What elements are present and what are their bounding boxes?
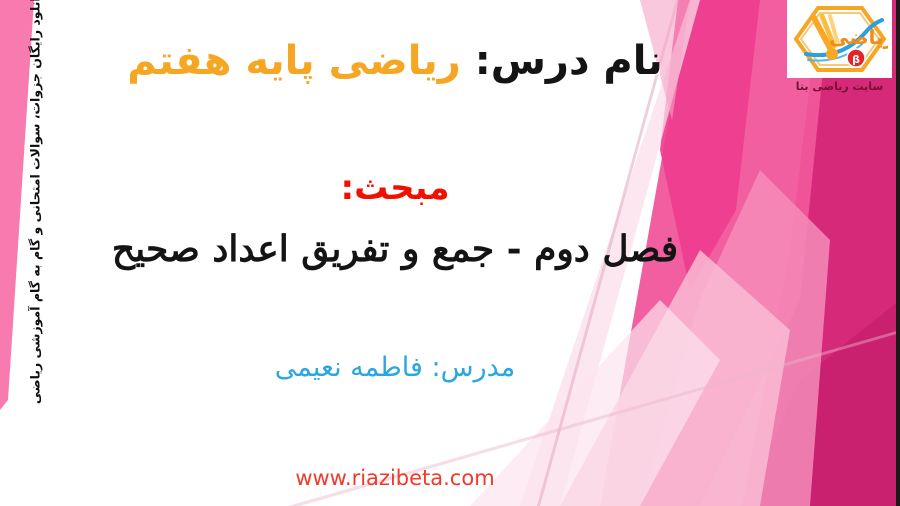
topic-value: فصل دوم - جمع و تفریق اعداد صحیح xyxy=(0,228,790,270)
course-title-line: نام درس: ریاضی پایه هفتم xyxy=(0,38,790,84)
slide-content: نام درس: ریاضی پایه هفتم مبحث: فصل دوم -… xyxy=(0,0,900,506)
course-name: ریاضی پایه هفتم xyxy=(127,38,461,84)
teacher-line: مدرس: فاطمه نعیمی xyxy=(0,352,790,383)
presentation-slide: دانلود رایگان جزوات، سوالات امتحانی و گا… xyxy=(0,0,900,506)
topic-label: مبحث: xyxy=(0,168,790,208)
course-label: نام درس: xyxy=(475,38,663,84)
site-url[interactable]: www.riazibeta.com xyxy=(0,466,790,490)
